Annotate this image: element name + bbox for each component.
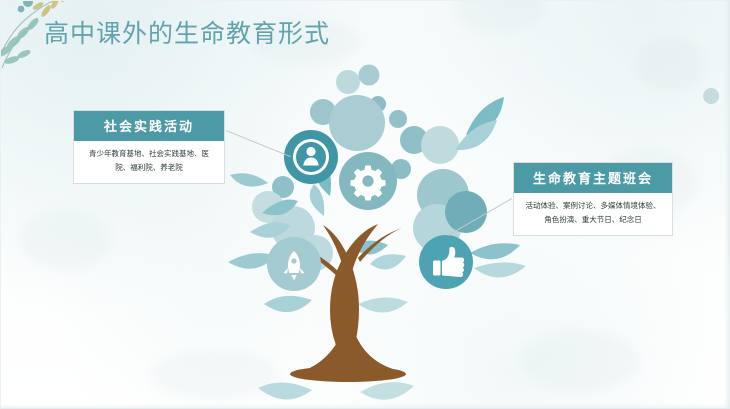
gear-icon [339,152,397,210]
canopy-circle [445,191,487,233]
decorative-dot [703,88,719,104]
connector-line-right [447,198,512,236]
canopy-circle [400,126,428,154]
canopy-circle [310,99,336,125]
callout-body: 活动体验、案例讨论、多媒体情境体验、角色扮演、重大节日、纪念日 [514,193,672,235]
background-texture-blob [20,210,110,270]
canopy-circle [413,204,461,252]
canopy-circle [252,191,284,223]
canopy-circle [391,159,411,179]
canopy-circle [297,235,333,271]
rocket-icon [267,237,321,291]
slide-frame-bottom [0,404,730,409]
callout-body: 青少年教育基地、社会实践基地、医院、福利院、养老院 [74,141,224,183]
canopy-circle [329,95,385,151]
slide-canvas: 社会实践活动 青少年教育基地、社会实践基地、医院、福利院、养老院 生命教育主题班… [0,0,730,409]
callout-caption: 社会实践活动 [74,111,224,141]
canopy-circle [421,126,459,164]
canopy-circle [271,206,315,250]
thumbs-up-icon [419,235,473,289]
background-texture-blob [455,0,545,32]
background-texture-blob [520,330,640,392]
canopy-circle [359,65,380,86]
canopy-circle [370,96,386,112]
background-texture-blob [636,40,706,92]
slide-frame-right [724,0,730,409]
background-texture-blob [150,350,280,400]
canopy-circle [417,169,469,221]
tree-trunk [290,224,406,382]
connector-line-left [226,130,291,157]
callout-life-education-class-meeting[interactable]: 生命教育主题班会 活动体验、案例讨论、多媒体情境体验、角色扮演、重大节日、纪念日 [513,162,673,236]
leaf-group [228,97,526,400]
canopy-circle [389,110,407,128]
callout-caption: 生命教育主题班会 [514,163,672,193]
person-icon [284,130,338,184]
callout-social-practice[interactable]: 社会实践活动 青少年教育基地、社会实践基地、医院、福利院、养老院 [73,110,225,184]
canopy-circle [336,70,360,94]
page-title: 高中课外的生命教育形式 [44,14,330,50]
canopy-circle [272,176,294,198]
